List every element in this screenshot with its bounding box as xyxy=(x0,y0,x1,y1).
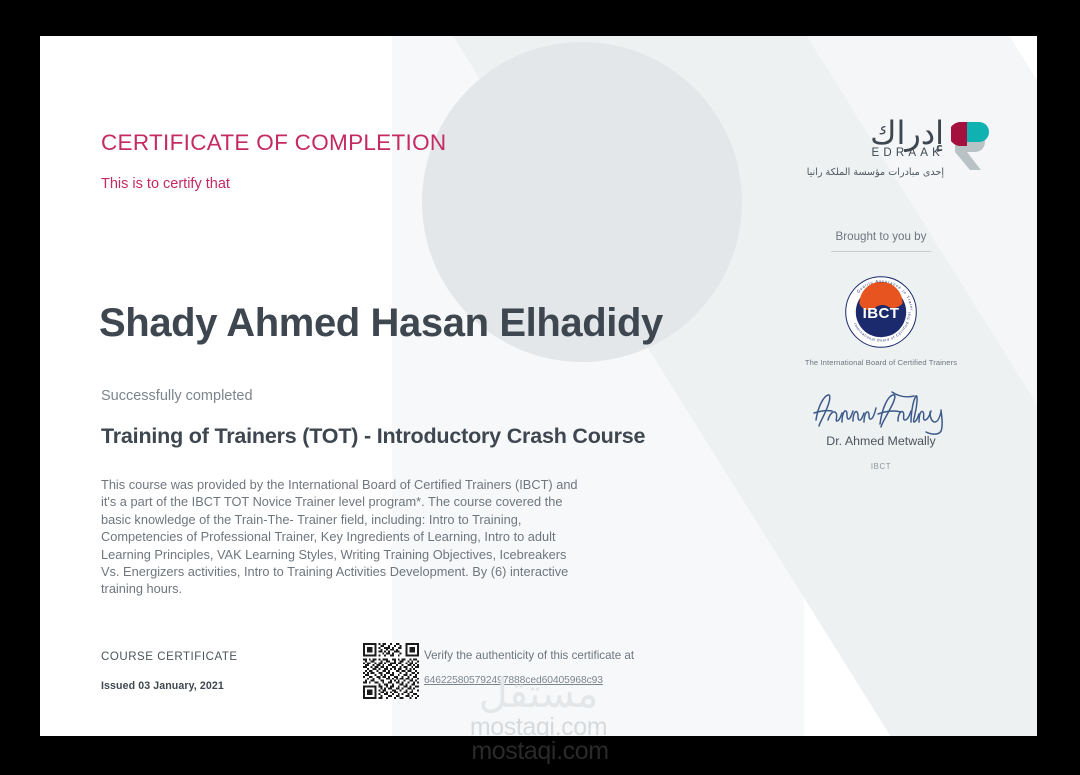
edraak-arabic-name: إدراك xyxy=(807,116,944,150)
course-description: This course was provided by the Internat… xyxy=(101,476,581,598)
certificate-sidebar: إدراك EDRAAK إحدى مبادرات مؤسسة الملكة ر… xyxy=(761,36,1001,736)
course-title: Training of Trainers (TOT) - Introductor… xyxy=(101,424,645,449)
edraak-wordmark: إدراك EDRAAK إحدى مبادرات مؤسسة الملكة ر… xyxy=(807,114,944,178)
edraak-mark-icon xyxy=(951,118,991,170)
handwritten-signature-icon xyxy=(806,386,956,438)
certificate-meta: COURSE CERTIFICATE Issued 03 January, 20… xyxy=(101,651,238,692)
watermark-latin-overflow: mostaqi.com xyxy=(471,737,608,766)
brought-to-you-by-label: Brought to you by xyxy=(761,230,1001,243)
signer-organization: IBCT xyxy=(761,462,1001,471)
certificate-sheet: CERTIFICATE OF COMPLETION This is to cer… xyxy=(40,36,1037,736)
recipient-name: Shady Ahmed Hasan Elhadidy xyxy=(99,301,663,346)
edraak-logo: إدراك EDRAAK إحدى مبادرات مؤسسة الملكة ر… xyxy=(807,114,991,178)
completion-label: Successfully completed xyxy=(101,388,253,404)
issued-date: Issued 03 January, 2021 xyxy=(101,680,238,692)
certificate-type-label: COURSE CERTIFICATE xyxy=(101,651,238,663)
divider-rule xyxy=(831,251,931,252)
edraak-tagline: إحدى مبادرات مؤسسة الملكة رانيا xyxy=(807,167,944,178)
svg-text:IBCT: IBCT xyxy=(863,305,900,322)
ibct-seal-icon: IBCT Quality Assurance in Training Inter… xyxy=(845,276,917,348)
certificate-main-content: CERTIFICATE OF COMPLETION This is to cer… xyxy=(101,36,721,736)
page-title: CERTIFICATE OF COMPLETION xyxy=(101,130,446,156)
verification-code-link[interactable]: 646225805792497888ced60405968c93 xyxy=(424,675,603,686)
qr-code-icon[interactable] xyxy=(363,643,419,699)
ibct-caption: The International Board of Certified Tra… xyxy=(761,358,1001,367)
qr-code-block[interactable] xyxy=(363,643,419,699)
edraak-latin-name: EDRAAK xyxy=(807,147,944,159)
screenshot-root: CERTIFICATE OF COMPLETION This is to cer… xyxy=(0,0,1080,775)
signer-name: Dr. Ahmed Metwally xyxy=(761,434,1001,448)
verify-instruction: Verify the authenticity of this certific… xyxy=(424,649,634,662)
certificate-subtitle: This is to certify that xyxy=(101,176,230,192)
verification-block: Verify the authenticity of this certific… xyxy=(424,649,634,688)
